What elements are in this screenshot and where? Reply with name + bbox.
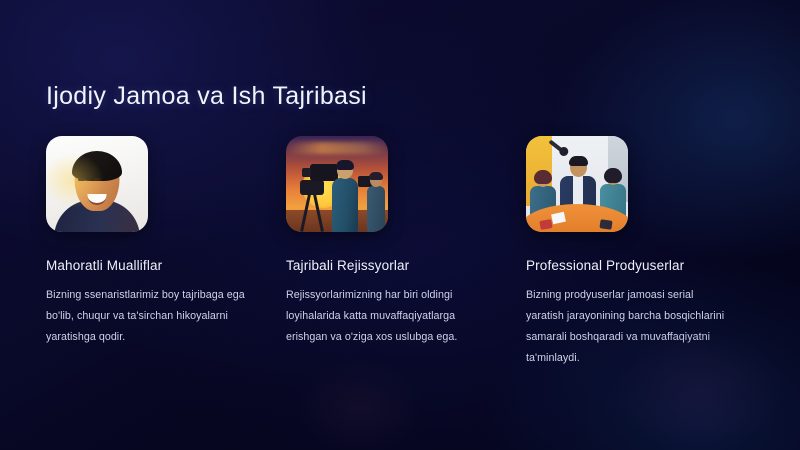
participant-hair [534, 170, 552, 184]
lead-hair [569, 156, 588, 166]
portrait-warm-light [46, 136, 148, 232]
feature-heading-authors: Mahoratli Mualliflar [46, 258, 248, 274]
film-crew-sunset-illustration [286, 136, 388, 232]
tripod-leg [300, 194, 311, 232]
feature-column-authors: Mahoratli Mualliflar Bizning ssenaristla… [46, 136, 248, 369]
tripod-rig [300, 180, 324, 195]
feature-heading-directors: Tajribali Rejissyorlar [286, 258, 488, 274]
feature-body-authors: Bizning ssenaristlarimiz boy tajribaga e… [46, 285, 248, 348]
tripod-leg [313, 194, 324, 232]
crew-body [367, 186, 385, 232]
crew-hair [369, 172, 383, 180]
feature-columns: Mahoratli Mualliflar Bizning ssenaristla… [46, 136, 756, 369]
feature-body-producers: Bizning prodyuserlar jamoasi serial yara… [526, 285, 728, 368]
participant-hair [604, 168, 622, 183]
feature-body-directors: Rejissyorlarimizning har biri oldingi lo… [286, 285, 488, 348]
tablet-device-icon [599, 219, 612, 230]
feature-column-producers: Professional Prodyuserlar Bizning prodyu… [526, 136, 728, 369]
operator-body [332, 178, 358, 232]
operator-hair [336, 160, 354, 170]
lead-shirt [573, 176, 583, 206]
camera-operator-figure [330, 162, 360, 232]
business-meeting-illustration [526, 136, 628, 232]
sunset-sky-streak [286, 142, 388, 154]
presentation-slide: Ijodiy Jamoa va Ish Tajribasi Mahoratli … [0, 0, 800, 450]
portrait-smiling-man-photo [46, 136, 148, 232]
crew-member-figure [366, 174, 386, 232]
feature-heading-producers: Professional Prodyuserlar [526, 258, 728, 274]
feature-column-directors: Tajribali Rejissyorlar Rejissyorlarimizn… [286, 136, 488, 369]
page-title: Ijodiy Jamoa va Ish Tajribasi [46, 82, 367, 111]
camera-tripod-icon [300, 180, 326, 232]
